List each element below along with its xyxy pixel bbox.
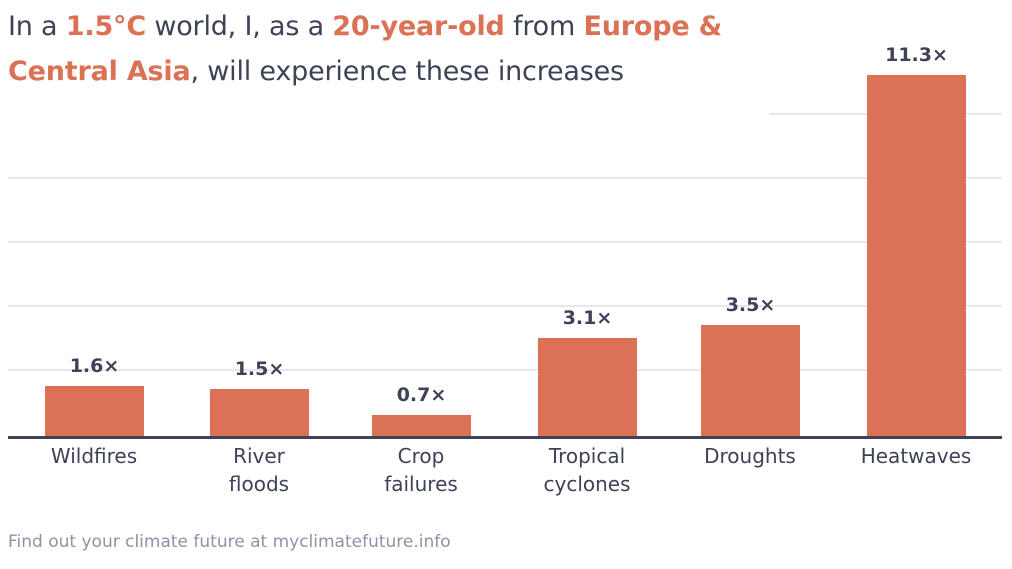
category-label-line: failures [341, 470, 501, 498]
bar[interactable] [867, 75, 966, 437]
category-label-line: floods [179, 470, 339, 498]
chart-plot-area: 1.6×1.5×0.7×3.1×3.5×11.3× [0, 0, 1012, 440]
bar-value-label: 1.6× [15, 355, 174, 377]
category-label: Riverfloods [179, 442, 339, 498]
category-label-line: River [179, 442, 339, 470]
category-label-line: Wildfires [14, 442, 174, 470]
bar[interactable] [210, 389, 309, 437]
category-label: Cropfailures [341, 442, 501, 498]
x-axis-line [8, 436, 1002, 439]
category-label: Droughts [670, 442, 830, 470]
bar-value-label: 0.7× [342, 384, 501, 406]
category-label-line: Crop [341, 442, 501, 470]
bar-value-label: 1.5× [180, 358, 339, 380]
bar-value-label: 3.5× [671, 294, 830, 316]
category-label-line: Tropical [507, 442, 667, 470]
category-label: Wildfires [14, 442, 174, 470]
footer-attribution: Find out your climate future at myclimat… [8, 532, 451, 552]
bar-value-label: 3.1× [508, 307, 667, 329]
x-axis-category-labels: WildfiresRiverfloodsCropfailuresTropical… [0, 442, 1012, 512]
bar[interactable] [701, 325, 800, 437]
climate-future-chart-page: In a 1.5°C world, I, as a 20-year-old fr… [0, 0, 1012, 569]
category-label: Heatwaves [836, 442, 996, 470]
bar-value-label: 11.3× [837, 44, 996, 66]
bar[interactable] [45, 386, 144, 437]
category-label-line: Heatwaves [836, 442, 996, 470]
bar[interactable] [372, 415, 471, 437]
category-label: Tropicalcyclones [507, 442, 667, 498]
category-label-line: cyclones [507, 470, 667, 498]
bar[interactable] [538, 338, 637, 437]
category-label-line: Droughts [670, 442, 830, 470]
